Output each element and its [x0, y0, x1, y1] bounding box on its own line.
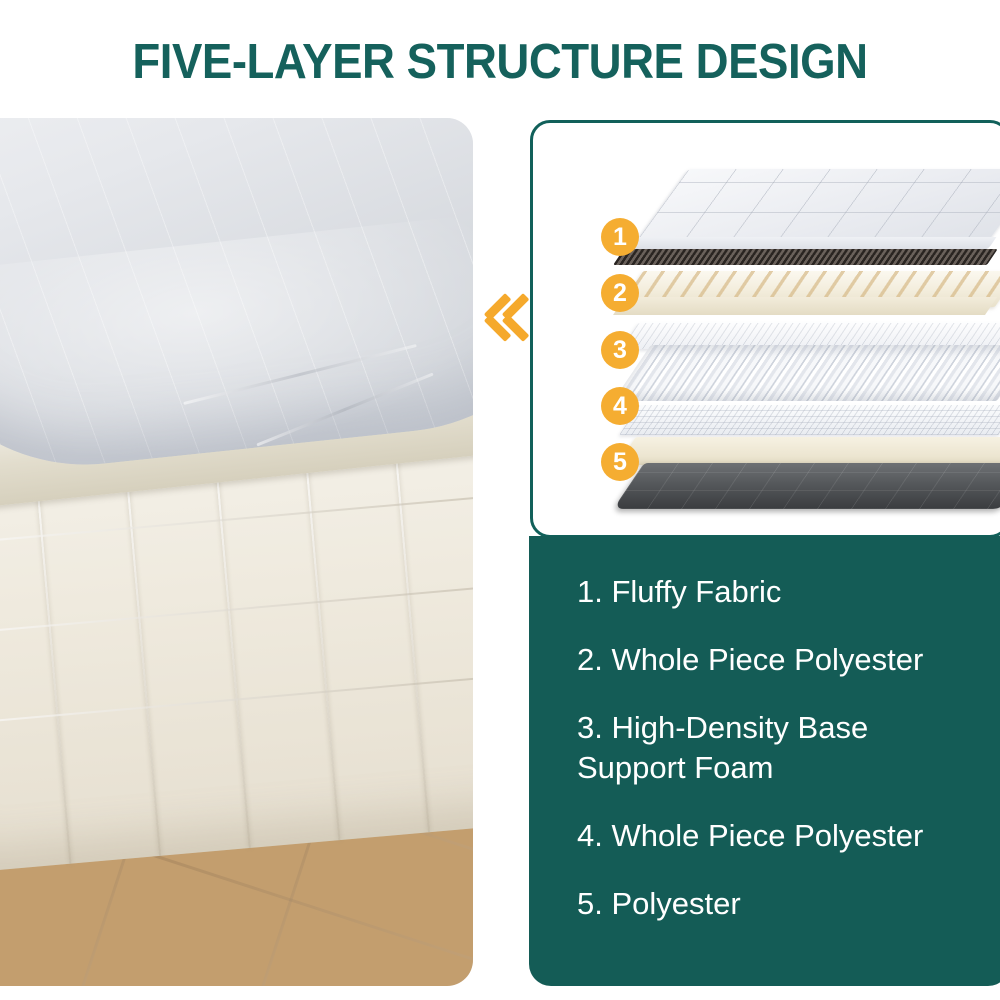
layer-3-pocket-coils — [613, 345, 1000, 401]
page-title: FIVE-LAYER STRUCTURE DESIGN — [35, 34, 965, 90]
infographic-canvas: FIVE-LAYER STRUCTURE DESIGN — [0, 0, 1000, 1000]
list-item: 2. Whole Piece Polyester — [577, 640, 997, 680]
layer-badge-1: 1 — [601, 218, 639, 256]
layer-1-dark-band — [613, 249, 998, 265]
layer-2-foam-base — [613, 297, 997, 315]
layer-diagram-card — [530, 120, 1000, 538]
layer-5-bottom-cover — [613, 463, 1000, 509]
exploded-layers-illustration — [613, 137, 1000, 529]
list-item: 3. High-Density Base Support Foam — [577, 708, 997, 788]
list-item: 1. Fluffy Fabric — [577, 572, 997, 612]
layer-list: 1. Fluffy Fabric 2. Whole Piece Polyeste… — [577, 572, 997, 952]
list-item: 5. Polyester — [577, 884, 997, 924]
layer-list-panel: 1. Fluffy Fabric 2. Whole Piece Polyeste… — [529, 536, 1000, 986]
layer-badge-3: 3 — [601, 331, 639, 369]
list-item: 4. Whole Piece Polyester — [577, 816, 997, 856]
product-photo — [0, 118, 473, 986]
layer-1-quilted-top — [635, 169, 1000, 243]
layer-badge-5: 5 — [601, 443, 639, 481]
layer-5-cream-foam — [617, 437, 1000, 465]
layer-4-mesh-fabric — [619, 405, 1000, 435]
layer-badge-2: 2 — [601, 274, 639, 312]
layer-badge-4: 4 — [601, 387, 639, 425]
